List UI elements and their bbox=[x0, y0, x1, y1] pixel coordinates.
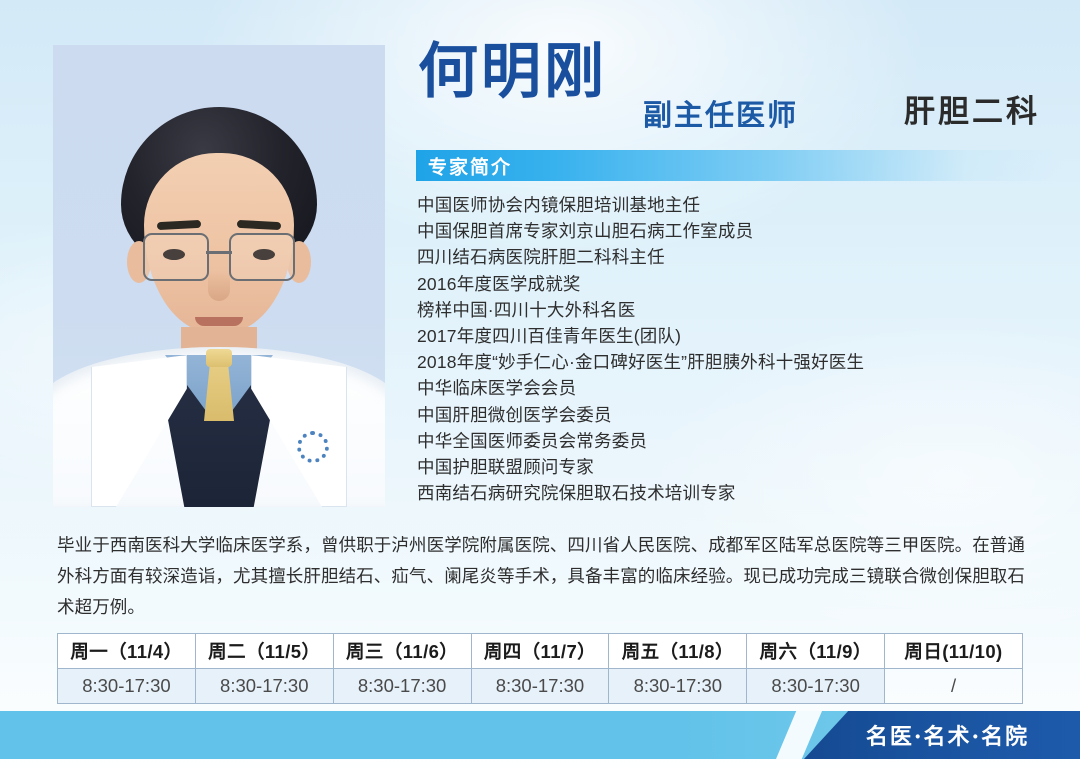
schedule-hours-cell: 8:30-17:30 bbox=[58, 669, 196, 704]
footer-slogan-panel: 名医·名术·名院 bbox=[804, 711, 1080, 759]
credential-item: 西南结石病研究院保胆取石技术培训专家 bbox=[417, 480, 1067, 506]
schedule-day-header: 周二（11/5） bbox=[195, 634, 333, 669]
doctor-title: 副主任医师 bbox=[643, 92, 798, 134]
credential-item: 中国医师协会内镜保胆培训基地主任 bbox=[417, 192, 1067, 218]
schedule-day-header: 周六（11/9） bbox=[747, 634, 885, 669]
credential-item: 中华临床医学会会员 bbox=[417, 375, 1067, 401]
schedule-day-header: 周一（11/4） bbox=[58, 634, 196, 669]
schedule-hours-cell: 8:30-17:30 bbox=[609, 669, 747, 704]
schedule-day-header: 周日(11/10) bbox=[885, 634, 1023, 669]
header: 何明刚 副主任医师 肝胆二科 bbox=[418, 44, 1058, 144]
portrait-necktie-knot bbox=[206, 349, 232, 367]
doctor-profile-card: 何明刚 副主任医师 肝胆二科 专家简介 中国医师协会内镜保胆培训基地主任 中国保… bbox=[0, 0, 1080, 773]
portrait-hospital-badge-icon bbox=[297, 431, 329, 463]
schedule-hours-cell: 8:30-17:30 bbox=[747, 669, 885, 704]
portrait-eyeglass-left bbox=[143, 233, 209, 281]
biography-paragraph: 毕业于西南医科大学临床医学系，曾供职于泸州医学院附属医院、四川省人民医院、成都军… bbox=[57, 530, 1025, 623]
credential-item: 2017年度四川百佳青年医生(团队) bbox=[417, 323, 1067, 349]
schedule-hours-cell: 8:30-17:30 bbox=[195, 669, 333, 704]
doctor-department: 肝胆二科 bbox=[904, 86, 1040, 131]
credential-item: 中国护胆联盟顾问专家 bbox=[417, 454, 1067, 480]
schedule-hours-cell: 8:30-17:30 bbox=[333, 669, 471, 704]
footer-slogan: 名医·名术·名院 bbox=[866, 719, 1029, 751]
schedule-hours-cell: / bbox=[885, 669, 1023, 704]
schedule-hours-cell: 8:30-17:30 bbox=[471, 669, 609, 704]
schedule-hours-row: 8:30-17:30 8:30-17:30 8:30-17:30 8:30-17… bbox=[58, 669, 1023, 704]
credential-item: 中国保胆首席专家刘京山胆石病工作室成员 bbox=[417, 218, 1067, 244]
doctor-portrait-photo bbox=[53, 45, 385, 507]
credential-item: 四川结石病医院肝胆二科科主任 bbox=[417, 244, 1067, 270]
portrait-eyeglass-bridge bbox=[206, 251, 232, 254]
schedule-header-row: 周一（11/4） 周二（11/5） 周三（11/6） 周四（11/7） 周五（1… bbox=[58, 634, 1023, 669]
credential-item: 2018年度“妙手仁心·金口碑好医生”肝胆胰外科十强好医生 bbox=[417, 349, 1067, 375]
profile-section-heading: 专家简介 bbox=[428, 152, 512, 179]
credential-item: 2016年度医学成就奖 bbox=[417, 271, 1067, 297]
schedule-day-header: 周三（11/6） bbox=[333, 634, 471, 669]
schedule-day-header: 周五（11/8） bbox=[609, 634, 747, 669]
doctor-name: 何明刚 bbox=[418, 42, 607, 102]
portrait-mouth bbox=[195, 317, 243, 326]
schedule-day-header: 周四（11/7） bbox=[471, 634, 609, 669]
footer-banner: 名医·名术·名院 bbox=[0, 711, 1080, 759]
schedule-table: 周一（11/4） 周二（11/5） 周三（11/6） 周四（11/7） 周五（1… bbox=[57, 633, 1023, 704]
credential-item: 榜样中国·四川十大外科名医 bbox=[417, 297, 1067, 323]
credential-item: 中国肝胆微创医学会委员 bbox=[417, 402, 1067, 428]
credentials-list: 中国医师协会内镜保胆培训基地主任 中国保胆首席专家刘京山胆石病工作室成员 四川结… bbox=[417, 192, 1067, 506]
portrait-eyeglass-right bbox=[229, 233, 295, 281]
profile-section-bar: 专家简介 bbox=[416, 150, 1064, 181]
credential-item: 中华全国医师委员会常务委员 bbox=[417, 428, 1067, 454]
portrait-nose bbox=[208, 271, 230, 301]
